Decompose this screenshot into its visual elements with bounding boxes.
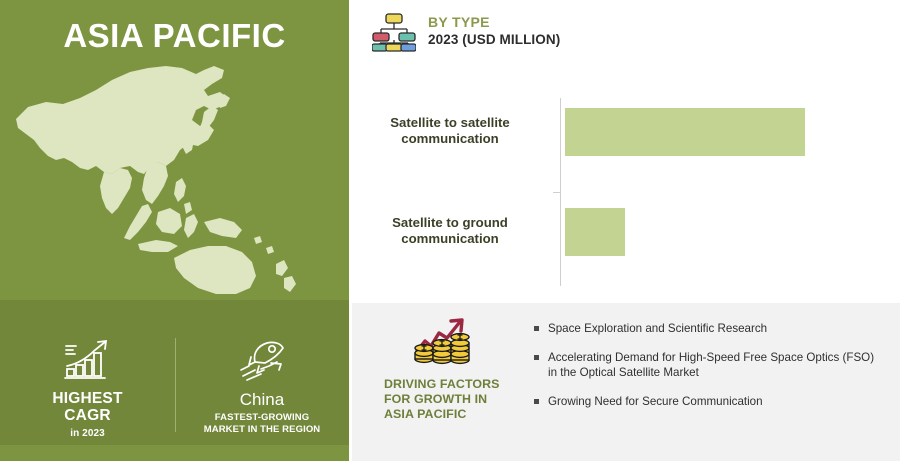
chart-panel: BY TYPE 2023 (USD MILLION) Satellite to … <box>352 0 900 301</box>
growth-bar-chart-icon <box>61 338 115 384</box>
bar-track <box>565 200 900 262</box>
stat-country-desc: FASTEST-GROWING MARKET IN THE REGION <box>175 412 349 435</box>
bar-satellite-to-ground <box>565 208 625 256</box>
list-item-label: Growing Need for Secure Communication <box>548 394 763 410</box>
bar-track <box>565 100 900 162</box>
stat-fastest-market: China FASTEST-GROWING MARKET IN THE REGI… <box>175 300 349 445</box>
page-title: ASIA PACIFIC <box>0 17 349 55</box>
rocket-icon <box>235 338 289 384</box>
stat-highest-cagr-year: in 2023 <box>0 428 175 440</box>
bar-label: Satellite to ground communication <box>352 215 552 248</box>
bar-row: Satellite to satellite communication <box>352 100 900 162</box>
stat-highest-cagr-value: HIGHEST CAGR <box>0 390 175 425</box>
list-item: Growing Need for Secure Communication <box>534 394 884 410</box>
bullet-icon <box>534 399 539 404</box>
driving-factors-list: Space Exploration and Scientific Researc… <box>534 321 884 423</box>
stat-highest-cagr: HIGHEST CAGR in 2023 <box>0 300 175 445</box>
bar-row: Satellite to ground communication <box>352 200 900 262</box>
infographic-root: ASIA PACIFIC <box>0 0 900 461</box>
bar-chart: Satellite to satellite communication Sat… <box>352 90 900 290</box>
region-panel: ASIA PACIFIC <box>0 0 349 461</box>
bar-label: Satellite to satellite communication <box>352 115 552 148</box>
driving-factors-heading-block: DRIVING FACTORS FOR GROWTH IN ASIA PACIF… <box>374 315 510 422</box>
driving-factors-panel: DRIVING FACTORS FOR GROWTH IN ASIA PACIF… <box>352 303 900 461</box>
bullet-icon <box>534 326 539 331</box>
list-item: Space Exploration and Scientific Researc… <box>534 321 884 337</box>
chart-title: BY TYPE <box>428 14 560 31</box>
chart-axis-tick <box>553 192 561 193</box>
hierarchy-org-chart-icon <box>372 10 416 52</box>
list-item: Accelerating Demand for High-Speed Free … <box>534 350 884 381</box>
driving-factors-title: DRIVING FACTORS FOR GROWTH IN ASIA PACIF… <box>374 377 510 422</box>
bullet-icon <box>534 355 539 360</box>
list-item-label: Space Exploration and Scientific Researc… <box>548 321 767 337</box>
chart-header: BY TYPE 2023 (USD MILLION) <box>372 10 560 52</box>
chart-subtitle: 2023 (USD MILLION) <box>428 32 560 48</box>
list-item-label: Accelerating Demand for High-Speed Free … <box>548 350 884 381</box>
bar-satellite-to-satellite <box>565 108 805 156</box>
coins-growth-icon <box>411 315 473 369</box>
stat-country-name: China <box>175 390 349 409</box>
asia-pacific-map-icon <box>8 62 343 294</box>
